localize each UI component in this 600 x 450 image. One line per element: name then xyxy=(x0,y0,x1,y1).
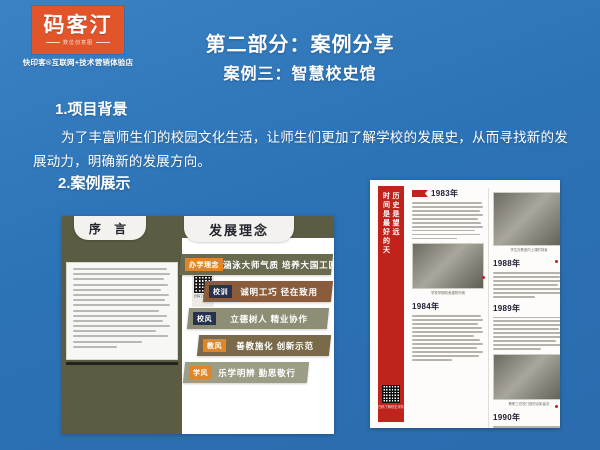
year-flag-marker: 1983年 xyxy=(412,188,484,199)
photo-caption: 教职工在校门前的合影留念 xyxy=(493,402,560,407)
showcase-image-left: 序 言 发展理念 扫码了解更多 办学理念 涵泳大师气质 培养大国工匠 xyxy=(62,216,334,434)
section-heading-background: 1.项目背景 xyxy=(55,98,128,119)
qr-caption: 扫码了解校史详情 xyxy=(378,405,404,409)
qr-pattern xyxy=(382,385,400,403)
banner-calligraphy: 历史是望远 时间是最好的天 xyxy=(378,192,404,378)
philosophy-row-list: 办学理念 涵泳大师气质 培养大国工匠 校训 诚明工巧 径在致用 校风 立德树人 … xyxy=(180,254,332,389)
timeline-year: 1990年 xyxy=(493,412,560,423)
table-row: 教风 善教施化 创新示范 xyxy=(197,335,331,356)
preface-card-underline xyxy=(66,362,178,365)
historical-photo xyxy=(493,192,560,246)
row-tag: 学风 xyxy=(189,366,212,379)
timeline-paragraph xyxy=(412,202,484,239)
tab-preface: 序 言 xyxy=(74,216,146,240)
timeline-paragraph xyxy=(412,315,484,360)
banner-column-1: 历史是望远 xyxy=(392,192,401,378)
slide-title: 第二部分：案例分享 xyxy=(0,28,600,57)
marker-dot xyxy=(555,405,558,408)
table-row: 校风 立德树人 精业协作 xyxy=(187,308,329,329)
background-paragraph: 为了丰富师生们的校园文化生活，让师生们更加了解学校的发展史，从而寻找新的发展动力… xyxy=(33,126,578,174)
flag-icon xyxy=(412,190,428,197)
showcase-image-right: 历史是望远 时间是最好的天 扫码了解校史详情 1983年 学校早期校舍建筑外貌 … xyxy=(370,180,560,428)
historical-photo xyxy=(493,354,560,400)
section-heading-showcase: 2.案例展示 xyxy=(58,172,131,193)
row-text: 乐学明辨 勤思敬行 xyxy=(212,367,308,379)
timeline-column-left: 1983年 学校早期校舍建筑外貌 1984年 xyxy=(412,188,484,363)
row-text: 诚明工巧 径在致用 xyxy=(232,286,332,298)
qr-code-ribbon: 扫码了解校史详情 xyxy=(378,382,404,422)
timeline-paragraph xyxy=(493,317,560,350)
presentation-slide: 码客汀 数位创意图 快印客®互联网+技术营销体验店 第二部分：案例分享 案例三：… xyxy=(0,0,600,450)
timeline-paragraph xyxy=(493,272,560,298)
banner-column-2: 时间是最好的天 xyxy=(382,192,391,378)
table-row: 学风 乐学明辨 勤思敬行 xyxy=(183,362,309,383)
table-row: 校训 诚明工巧 径在致用 xyxy=(203,281,333,302)
timeline-year: 1988年 xyxy=(493,258,560,269)
marker-dot xyxy=(482,276,485,279)
row-tag: 办学理念 xyxy=(185,258,223,271)
photo-caption: 学生在教室内上课的场景 xyxy=(493,248,560,253)
row-text: 善教施化 创新示范 xyxy=(226,340,330,352)
photo-caption: 学校早期校舍建筑外貌 xyxy=(412,291,484,296)
timeline-year: 1984年 xyxy=(412,301,484,312)
timeline-column-right: 学生在教室内上课的场景 1988年 1989年 教职工在校门前的合影留念 199… xyxy=(488,188,560,428)
tab-development-idea: 发展理念 xyxy=(184,216,294,242)
preface-text-card xyxy=(66,262,178,360)
row-tag: 校训 xyxy=(209,285,232,298)
row-tag: 教风 xyxy=(203,339,226,352)
row-text: 立德树人 精业协作 xyxy=(216,313,328,325)
slide-subtitle: 案例三：智慧校史馆 xyxy=(0,60,600,84)
timeline-year: 1983年 xyxy=(431,188,458,199)
table-row: 办学理念 涵泳大师气质 培养大国工匠 xyxy=(179,254,333,275)
timeline-year: 1989年 xyxy=(493,303,560,314)
row-tag: 校风 xyxy=(193,312,216,325)
marker-dot xyxy=(555,260,558,263)
historical-photo xyxy=(412,243,484,289)
timeline-paragraph xyxy=(493,426,560,428)
row-text: 涵泳大师气质 培养大国工匠 xyxy=(223,259,334,271)
